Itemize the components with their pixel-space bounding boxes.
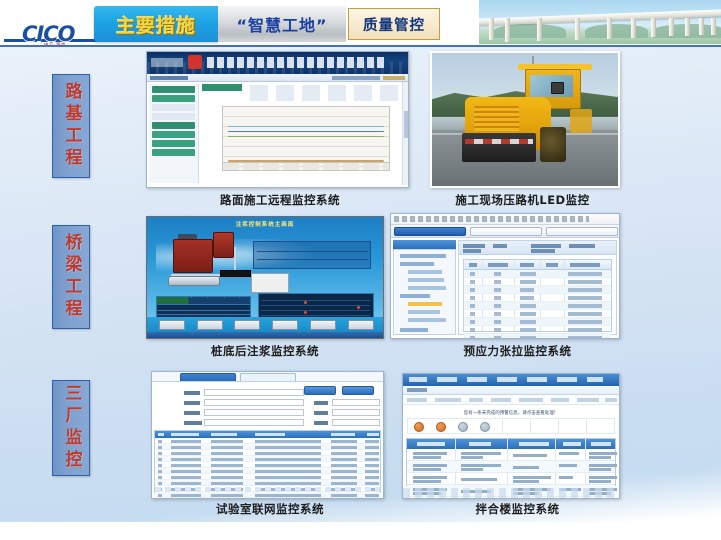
status-icon[interactable] — [480, 422, 490, 432]
caption-lab-network-monitoring: 试验室联网监控系统 — [170, 501, 370, 517]
led-display — [551, 82, 564, 94]
title-mid-badge: “智慧工地” — [218, 6, 346, 42]
panel-toolbar[interactable] — [459, 241, 616, 255]
caption-prestress-tension-monitoring: 预应力张拉监控系统 — [420, 343, 615, 359]
panel-grouting-control-hmi[interactable]: 注浆控制系统主画面 — [146, 216, 384, 339]
table-row[interactable] — [464, 302, 611, 310]
panel-roller-led-photo[interactable] — [430, 51, 620, 188]
hmi-screen-title: 注浆控制系统主画面 — [147, 220, 383, 228]
app-toolbar — [147, 74, 408, 82]
sidebar-item-label: 路基工程 — [63, 82, 80, 170]
table-row[interactable] — [155, 492, 380, 498]
data-panel — [458, 240, 617, 335]
readout-display — [220, 270, 251, 277]
title-bar: 主要措施 “智慧工地” 质量管控 — [94, 6, 440, 42]
mixer-tank-graphic — [173, 239, 213, 273]
table-row[interactable] — [155, 468, 380, 474]
tab-active[interactable] — [180, 373, 236, 381]
records-table[interactable] — [154, 430, 381, 493]
pump-graphic — [168, 276, 220, 286]
status-panel — [253, 241, 371, 269]
app-content — [202, 84, 400, 183]
table-header — [407, 439, 615, 449]
drum-guard — [462, 133, 536, 162]
search-button[interactable] — [304, 386, 336, 395]
panel-road-remote-monitoring[interactable] — [146, 51, 409, 188]
hmi-button[interactable] — [159, 320, 185, 330]
title-main-text: 主要措施 — [116, 11, 196, 38]
panel-prestress-tension-browser[interactable] — [390, 213, 620, 339]
top-nav-bar[interactable] — [403, 374, 619, 386]
table-row[interactable] — [407, 473, 615, 485]
hmi-button[interactable] — [310, 320, 336, 330]
records-table[interactable] — [463, 259, 612, 332]
bridge-photo — [479, 0, 721, 44]
caption-road-remote-monitoring: 路面施工远程监控系统 — [180, 192, 380, 208]
app-side-nav[interactable] — [149, 84, 199, 183]
status-icon[interactable] — [458, 422, 468, 432]
search-input[interactable] — [332, 399, 380, 406]
title-mid-text: “智慧工地” — [236, 12, 327, 36]
line-chart — [222, 106, 390, 171]
table-row[interactable] — [464, 286, 611, 294]
table-row[interactable] — [155, 438, 380, 444]
dialog-box[interactable] — [251, 273, 289, 294]
hmi-button[interactable] — [234, 320, 260, 330]
title-main-badge: 主要措施 — [94, 6, 218, 42]
filter-row[interactable] — [250, 85, 400, 101]
parameter-table-left — [156, 296, 250, 320]
nav-item[interactable] — [527, 377, 547, 382]
tree-panel-header — [393, 240, 456, 249]
search-input[interactable] — [204, 389, 304, 396]
search-input[interactable] — [204, 419, 304, 426]
title-tag-text: 质量管控 — [363, 14, 425, 35]
table-row[interactable] — [464, 310, 611, 318]
nav-item[interactable] — [587, 377, 603, 382]
records-table[interactable] — [406, 438, 616, 486]
caption-pile-grouting-monitoring: 桩底后注浆监控系统 — [165, 343, 365, 359]
tab-active[interactable] — [394, 227, 466, 236]
content-tab[interactable] — [202, 84, 242, 91]
table-row[interactable] — [155, 474, 380, 480]
sidebar-item-label: 桥梁工程 — [63, 233, 80, 321]
search-input[interactable] — [332, 419, 380, 426]
site-banner — [147, 52, 408, 74]
table-row[interactable] — [155, 456, 380, 462]
sidebar-item-plants[interactable]: 三厂监控 — [52, 380, 90, 476]
hmi-button[interactable] — [348, 320, 374, 330]
nav-item[interactable] — [409, 377, 427, 382]
table-row[interactable] — [155, 450, 380, 456]
header-divider — [0, 45, 721, 47]
table-row[interactable] — [464, 326, 611, 334]
storage-tank-graphic — [213, 232, 234, 259]
project-tree[interactable] — [393, 249, 456, 335]
slide-footer — [0, 522, 721, 540]
nav-item[interactable] — [437, 377, 457, 382]
panel-mixing-plant-monitoring[interactable]: 您有一条未完成的预警信息，请点击查看处理！ — [402, 373, 620, 499]
pagination-bar[interactable] — [403, 488, 619, 498]
table-row[interactable] — [407, 461, 615, 473]
reset-button[interactable] — [342, 386, 374, 395]
alert-icon[interactable] — [436, 422, 446, 432]
table-row[interactable] — [407, 449, 615, 461]
vertical-scrollbar[interactable] — [402, 82, 408, 185]
table-row[interactable] — [464, 334, 611, 339]
search-form[interactable] — [156, 385, 379, 427]
table-row[interactable] — [155, 462, 380, 468]
table-row[interactable] — [155, 444, 380, 450]
hmi-button[interactable] — [272, 320, 298, 330]
table-row[interactable] — [464, 318, 611, 326]
table-header — [464, 260, 611, 270]
table-row[interactable] — [464, 270, 611, 278]
nav-item[interactable] — [467, 377, 487, 382]
second-roller — [570, 109, 592, 133]
slide-header: CICO 中交·路桥 主要措施 “智慧工地” 质量管控 — [0, 0, 721, 47]
rear-wheel — [540, 127, 566, 162]
browser-titlebar — [391, 214, 619, 225]
search-input[interactable] — [204, 409, 304, 416]
taskbar — [147, 332, 383, 338]
table-row[interactable] — [155, 480, 380, 486]
panel-lab-network-monitoring[interactable] — [151, 371, 384, 499]
hmi-button[interactable] — [197, 320, 223, 330]
sub-nav[interactable] — [403, 386, 619, 395]
tab-secondary[interactable] — [240, 373, 296, 381]
sidebar-item-bridge[interactable]: 桥梁工程 — [52, 225, 90, 329]
title-tag-badge: 质量管控 — [348, 8, 440, 40]
nav-item[interactable] — [557, 377, 577, 382]
filter-bar[interactable] — [403, 395, 619, 405]
tab-strip[interactable] — [152, 372, 383, 382]
table-row[interactable] — [464, 278, 611, 286]
tab-secondary[interactable] — [470, 227, 542, 236]
sidebar-item-subgrade[interactable]: 路基工程 — [52, 74, 90, 178]
alert-notice[interactable]: 您有一条未完成的预警信息，请点击查看处理！ — [403, 408, 619, 417]
search-input[interactable] — [204, 399, 304, 406]
caption-roller-led-monitoring: 施工现场压路机LED监控 — [425, 192, 620, 208]
table-footer — [155, 487, 380, 492]
table-header — [155, 431, 380, 438]
table-row[interactable] — [464, 294, 611, 302]
search-input[interactable] — [332, 409, 380, 416]
nav-item[interactable] — [497, 377, 517, 382]
alert-icon[interactable] — [414, 422, 424, 432]
status-icon-row[interactable] — [407, 418, 615, 434]
sidebar-item-label: 三厂监控 — [63, 384, 80, 472]
hmi-button-bar[interactable] — [147, 317, 383, 333]
tab-tertiary[interactable] — [546, 227, 618, 236]
caption-mixing-plant-monitoring: 拌合楼监控系统 — [420, 501, 615, 517]
system-tab-strip[interactable] — [391, 225, 619, 238]
